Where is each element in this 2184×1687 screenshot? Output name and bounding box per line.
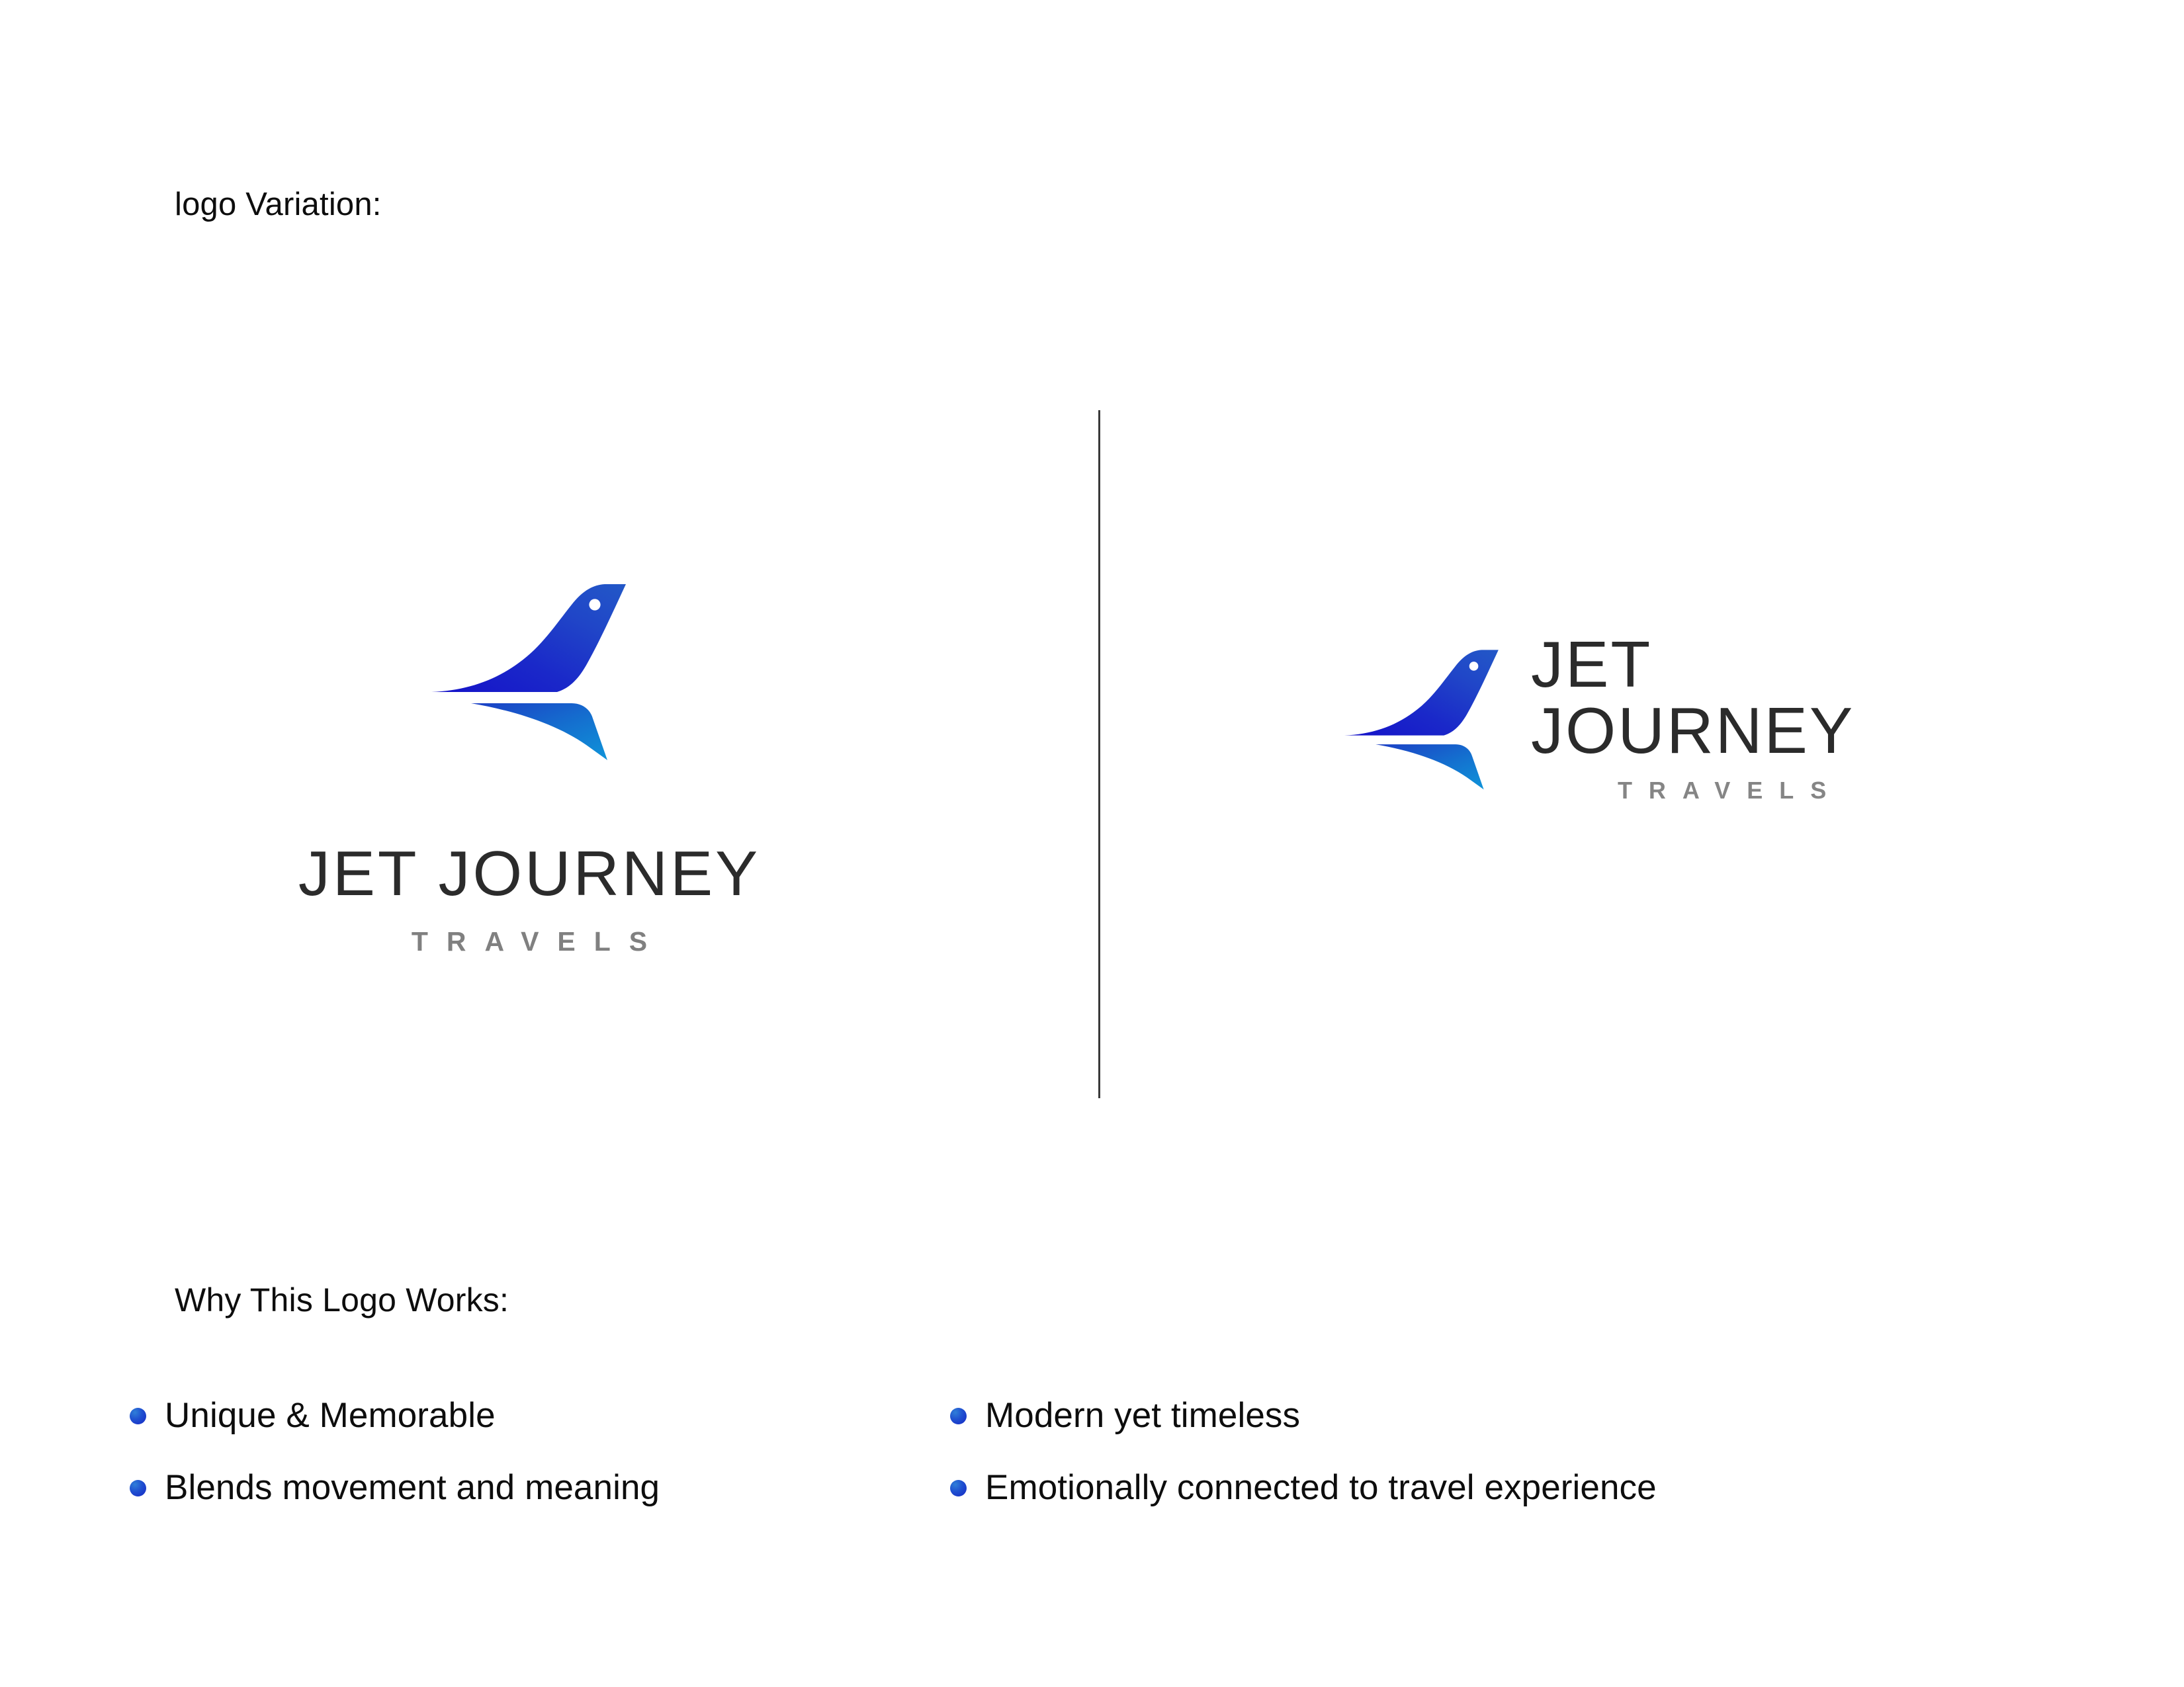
- bird-eye-dot: [589, 599, 600, 610]
- bullet-dot-icon: [130, 1408, 146, 1424]
- benefit-item: Blends movement and meaning: [130, 1468, 950, 1508]
- slide-canvas: logo Variation:: [0, 0, 2184, 1687]
- benefit-item: Emotionally connected to travel experien…: [950, 1468, 2048, 1508]
- bullet-dot-icon: [130, 1480, 146, 1496]
- logo-variation-stacked[interactable]: JET JOURNEY TRAVELS: [245, 569, 814, 955]
- section-label-logo-variation: logo Variation:: [175, 187, 382, 223]
- benefit-label: Blends movement and meaning: [165, 1468, 660, 1508]
- wordmark-jet-journey: JET JOURNEY: [298, 842, 760, 906]
- brand-mark-horizontal: [1343, 637, 1501, 814]
- tagline-travels: TRAVELS: [1601, 779, 1843, 802]
- benefit-label: Modern yet timeless: [985, 1396, 1300, 1436]
- tagline-travels: TRAVELS: [393, 928, 666, 955]
- benefit-item: Modern yet timeless: [950, 1396, 2048, 1436]
- brand-mark-stacked: [430, 569, 629, 791]
- vertical-divider: [1098, 410, 1100, 1098]
- bullet-dot-icon: [950, 1480, 967, 1496]
- benefit-label: Emotionally connected to travel experien…: [985, 1468, 1657, 1508]
- bird-wing-shape: [471, 703, 607, 760]
- bird-eye-dot: [1469, 662, 1479, 671]
- wordmark-line-journey: JOURNEY: [1531, 698, 1855, 764]
- benefit-label: Unique & Memorable: [165, 1396, 496, 1436]
- logo-variation-horizontal[interactable]: JET JOURNEY TRAVELS: [1343, 632, 1855, 814]
- bird-wing-shape: [1376, 744, 1483, 789]
- why-section-heading: Why This Logo Works:: [175, 1282, 509, 1319]
- bullet-dot-icon: [950, 1408, 967, 1424]
- wordmark-line-jet: JET: [1531, 632, 1652, 698]
- benefits-list: Unique & Memorable Modern yet timeless B…: [130, 1396, 2048, 1508]
- wordmark-block-horizontal: JET JOURNEY TRAVELS: [1531, 632, 1855, 802]
- benefit-item: Unique & Memorable: [130, 1396, 950, 1436]
